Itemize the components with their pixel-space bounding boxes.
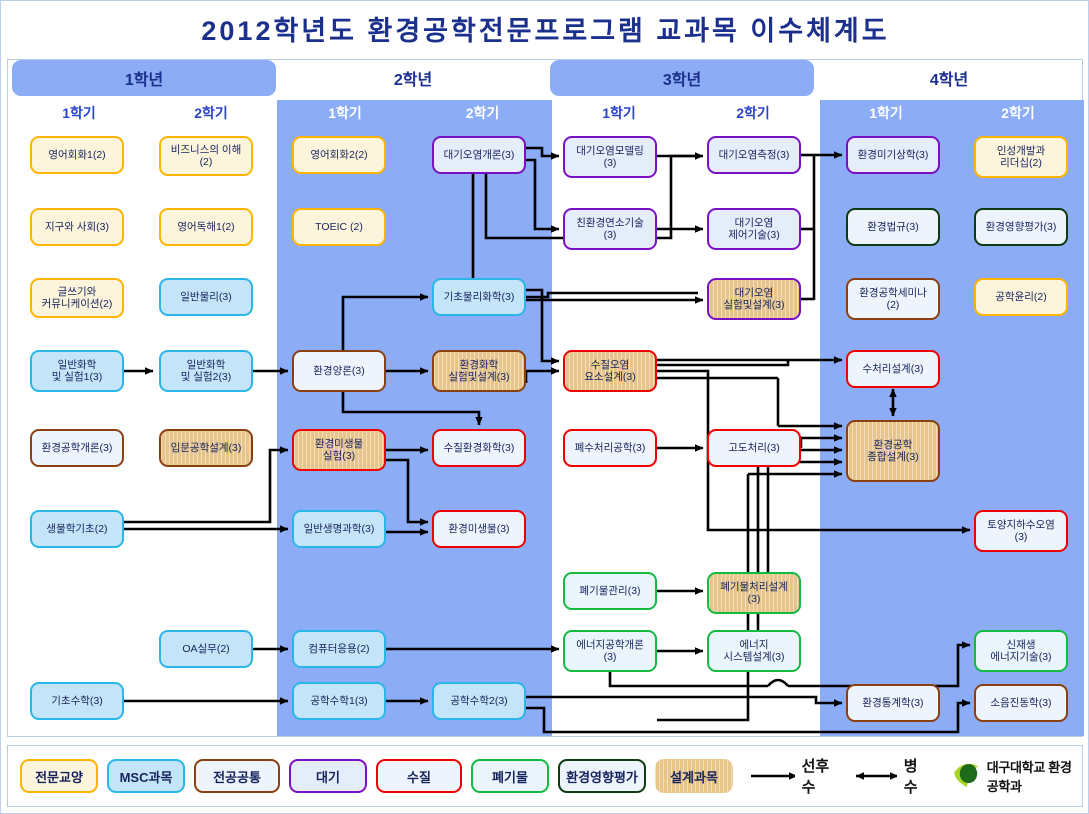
semester-text: 1학기 (328, 103, 362, 123)
prereq-label: 선후수 (802, 755, 835, 797)
course-label: 환경공학세미나 (2) (859, 287, 927, 311)
legend-item-label: 수질 (407, 767, 431, 786)
semester-label-y1s2: 2학기 (146, 100, 276, 126)
course-box-y2s1_c3[interactable]: 환경양론(3) (292, 350, 386, 392)
legend-item-label: 대기 (316, 767, 340, 786)
course-label: 폐기물처리설계 (3) (720, 581, 788, 605)
course-label: 생물학기초(2) (46, 523, 107, 535)
legend-item-5: 폐기물 (471, 759, 549, 793)
course-box-y1s1_c1[interactable]: 영어회화1(2) (30, 136, 124, 174)
course-box-y2s1_c7[interactable]: 공학수학1(3) (292, 682, 386, 720)
legend-bar: 전문교양MSC과목전공공통대기수질폐기물환경영향평가설계과목 선후수 병 (7, 745, 1083, 807)
course-box-y3s2_c4[interactable]: 고도처리(3) (707, 429, 801, 467)
course-label: 대기오염개론(3) (444, 149, 515, 161)
course-box-y3s2_c5[interactable]: 폐기물처리설계 (3) (707, 572, 801, 614)
year-header-3: 3학년 (550, 60, 814, 96)
course-box-y2s1_c4[interactable]: 환경미생물 실험(3) (292, 429, 386, 471)
course-label: 에너지 시스템설계(3) (723, 639, 784, 663)
course-label: 환경영향평가(3) (986, 221, 1057, 233)
course-box-y4s2_c6[interactable]: 소음진동학(3) (974, 684, 1068, 722)
course-box-y3s1_c1[interactable]: 대기오염모델링 (3) (563, 136, 657, 178)
legend-item-4: 수질 (376, 759, 462, 793)
course-box-y4s1_c4[interactable]: 수처리설계(3) (846, 350, 940, 388)
university-logo-icon (951, 756, 983, 796)
course-box-y3s2_c1[interactable]: 대기오염측정(3) (707, 136, 801, 174)
course-label: 신재생 에너지기술(3) (990, 639, 1051, 663)
course-box-y3s2_c2[interactable]: 대기오염 제어기술(3) (707, 208, 801, 250)
course-label: 공학윤리(2) (995, 291, 1046, 303)
course-box-y2s2_c5[interactable]: 환경미생물(3) (432, 510, 526, 548)
course-box-y4s1_c2[interactable]: 환경법규(3) (846, 208, 940, 246)
semester-text: 1학기 (602, 103, 636, 123)
course-label: 소음진동학(3) (990, 697, 1051, 709)
course-box-y2s1_c6[interactable]: 컴퓨터응용(2) (292, 630, 386, 668)
semester-text: 1학기 (869, 103, 903, 123)
course-box-y2s2_c3[interactable]: 환경화학 실험및설계(3) (432, 350, 526, 392)
course-label: 기초물리화학(3) (444, 291, 515, 303)
course-label: 인성개발과 리더십(2) (997, 145, 1045, 169)
course-label: 기초수학(3) (51, 695, 102, 707)
course-label: 토양지하수오염 (3) (987, 519, 1055, 543)
course-box-y4s1_c5[interactable]: 환경공학 종합설계(3) (846, 420, 940, 482)
course-box-y3s1_c3[interactable]: 수질오염 요소설계(3) (563, 350, 657, 392)
course-label: 대기오염 실험및설계(3) (723, 287, 784, 311)
course-box-y1s1_c2[interactable]: 지구와 사회(3) (30, 208, 124, 246)
course-label: 공학수학1(3) (310, 695, 367, 707)
course-label: 폐기물관리(3) (579, 585, 640, 597)
course-box-y3s1_c5[interactable]: 폐기물관리(3) (563, 572, 657, 610)
course-box-y1s1_c6[interactable]: 생물학기초(2) (30, 510, 124, 548)
semester-text: 2학기 (1001, 103, 1035, 123)
course-box-y4s1_c1[interactable]: 환경미기상학(3) (846, 136, 940, 174)
course-label: 에너지공학개론 (3) (576, 639, 644, 663)
course-label: 지구와 사회(3) (45, 221, 109, 233)
course-label: 영어독해1(2) (177, 221, 234, 233)
course-box-y4s1_c3[interactable]: 환경공학세미나 (2) (846, 278, 940, 320)
year-header-2-label: 2학년 (394, 66, 432, 90)
curriculum-flowchart-page: 2012학년도 환경공학전문프로그램 교과목 이수체계도 1학년 2학년 3학년… (0, 0, 1089, 814)
course-label: 입문공학설계(3) (171, 442, 242, 454)
course-box-y1s2_c4[interactable]: 일반화학 및 실험2(3) (159, 350, 253, 392)
course-box-y4s2_c3[interactable]: 공학윤리(2) (974, 278, 1068, 316)
organization-logo: 대구대학교 환경공학과 (951, 756, 1082, 796)
course-box-y1s1_c7[interactable]: 기초수학(3) (30, 682, 124, 720)
course-box-y1s2_c5[interactable]: 입문공학설계(3) (159, 429, 253, 467)
legend-item-label: 전공공통 (213, 767, 261, 786)
course-box-y4s2_c1[interactable]: 인성개발과 리더십(2) (974, 136, 1068, 178)
course-box-y1s1_c5[interactable]: 환경공학개론(3) (30, 429, 124, 467)
course-box-y3s1_c6[interactable]: 에너지공학개론 (3) (563, 630, 657, 672)
course-label: 환경미기상학(3) (858, 149, 929, 161)
legend-item-label: 전문교양 (35, 767, 83, 786)
year-header-2: 2학년 (280, 60, 546, 96)
course-label: 고도처리(3) (728, 442, 779, 454)
course-label: 폐수처리공학(3) (575, 442, 646, 454)
page-title: 2012학년도 환경공학전문프로그램 교과목 이수체계도 (1, 9, 1089, 48)
course-label: 환경통계학(3) (862, 697, 923, 709)
course-label: 컴퓨터응용(2) (308, 643, 369, 655)
semester-label-y2s2: 2학기 (413, 100, 552, 126)
semester-label-y3s1: 1학기 (552, 100, 686, 126)
legend-item-label: 환경영향평가 (566, 767, 638, 786)
legend-prereq: 선후수 (749, 755, 834, 797)
course-box-y3s1_c4[interactable]: 폐수처리공학(3) (563, 429, 657, 467)
course-label: 친환경연소기술 (3) (576, 217, 644, 241)
semester-text: 2학기 (466, 103, 500, 123)
course-label: 환경법규(3) (867, 221, 918, 233)
course-box-y2s2_c4[interactable]: 수질환경화학(3) (432, 429, 526, 467)
legend-item-label: MSC과목 (120, 767, 173, 786)
coreq-arrow-icon (848, 769, 897, 783)
course-box-y2s1_c1[interactable]: 영어회화2(2) (292, 136, 386, 174)
course-box-y1s2_c1[interactable]: 비즈니스의 이해 (2) (159, 136, 253, 176)
course-label: 대기오염모델링 (3) (576, 145, 644, 169)
course-label: 공학수학2(3) (450, 695, 507, 707)
year-header-3-label: 3학년 (663, 66, 701, 90)
legend-item-6: 환경영향평가 (558, 759, 646, 793)
prereq-arrow-icon (749, 769, 795, 783)
course-label: 환경화학 실험및설계(3) (448, 359, 509, 383)
course-label: OA실무(2) (182, 643, 229, 655)
course-label: 환경공학개론(3) (42, 442, 113, 454)
course-label: 비즈니스의 이해 (2) (171, 144, 242, 168)
course-label: 수처리설계(3) (862, 363, 923, 375)
course-label: 대기오염측정(3) (719, 149, 790, 161)
course-box-y1s2_c6[interactable]: OA실무(2) (159, 630, 253, 668)
course-box-y2s2_c1[interactable]: 대기오염개론(3) (432, 136, 526, 174)
course-box-y1s1_c4[interactable]: 일반화학 및 실험1(3) (30, 350, 124, 392)
course-label: 수질오염 요소설계(3) (584, 359, 635, 383)
semester-label-y3s2: 2학기 (686, 100, 820, 126)
semester-label-y1s1: 1학기 (12, 100, 146, 126)
course-box-y2s1_c2[interactable]: TOEIC (2) (292, 208, 386, 246)
flowchart-canvas: 1학년 2학년 3학년 4학년 1학기 2학기 1학기 2학기 1학기 2학기 … (7, 59, 1083, 737)
course-box-y4s2_c4[interactable]: 토양지하수오염 (3) (974, 510, 1068, 552)
course-label: 일반물리(3) (180, 291, 231, 303)
course-label: 대기오염 제어기술(3) (728, 217, 779, 241)
course-box-y1s1_c3[interactable]: 글쓰기와 커뮤니케이션(2) (30, 278, 124, 318)
year-header-4: 4학년 (818, 60, 1080, 96)
course-label: 환경공학 종합설계(3) (867, 439, 918, 463)
course-box-y3s2_c6[interactable]: 에너지 시스템설계(3) (707, 630, 801, 672)
semester-text: 2학기 (736, 103, 770, 123)
course-box-y3s2_c3[interactable]: 대기오염 실험및설계(3) (707, 278, 801, 320)
course-box-y2s1_c5[interactable]: 일반생명과학(3) (292, 510, 386, 548)
year-header-1-label: 1학년 (125, 66, 163, 90)
semester-text: 1학기 (62, 103, 96, 123)
semester-label-y4s1: 1학기 (820, 100, 952, 126)
organization-label: 대구대학교 환경공학과 (987, 757, 1082, 795)
course-label: 환경양론(3) (313, 365, 364, 377)
course-box-y1s2_c3[interactable]: 일반물리(3) (159, 278, 253, 316)
legend-item-3: 대기 (289, 759, 367, 793)
course-box-y1s2_c2[interactable]: 영어독해1(2) (159, 208, 253, 246)
course-label: 영어회화1(2) (48, 149, 105, 161)
legend-item-label: 설계과목 (670, 767, 718, 786)
course-label: 일반화학 및 실험1(3) (52, 359, 103, 383)
legend-coreq: 병수 (848, 755, 927, 797)
course-label: 글쓰기와 커뮤니케이션(2) (42, 286, 113, 310)
coreq-label: 병수 (904, 755, 927, 797)
legend-item-0: 전문교양 (20, 759, 98, 793)
course-label: TOEIC (2) (315, 221, 363, 233)
semester-label-y4s2: 2학기 (952, 100, 1084, 126)
course-label: 일반생명과학(3) (304, 523, 375, 535)
course-label: 환경미생물(3) (448, 523, 509, 535)
course-label: 수질환경화학(3) (444, 442, 515, 454)
course-box-y4s2_c5[interactable]: 신재생 에너지기술(3) (974, 630, 1068, 672)
course-box-y3s1_c2[interactable]: 친환경연소기술 (3) (563, 208, 657, 250)
course-box-y2s2_c6[interactable]: 공학수학2(3) (432, 682, 526, 720)
legend-item-1: MSC과목 (107, 759, 185, 793)
course-label: 일반화학 및 실험2(3) (181, 359, 232, 383)
course-label: 영어회화2(2) (310, 149, 367, 161)
course-box-y4s1_c6[interactable]: 환경통계학(3) (846, 684, 940, 722)
course-label: 환경미생물 실험(3) (315, 438, 363, 462)
semester-text: 2학기 (194, 103, 228, 123)
course-box-y4s2_c2[interactable]: 환경영향평가(3) (974, 208, 1068, 246)
legend-item-7: 설계과목 (655, 759, 733, 793)
year-header-1: 1학년 (12, 60, 276, 96)
legend-item-2: 전공공통 (194, 759, 280, 793)
course-box-y2s2_c2[interactable]: 기초물리화학(3) (432, 278, 526, 316)
legend-item-label: 폐기물 (492, 767, 528, 786)
semester-label-y2s1: 1학기 (277, 100, 413, 126)
year-header-4-label: 4학년 (930, 66, 968, 90)
legend-swatch-list: 전문교양MSC과목전공공통대기수질폐기물환경영향평가설계과목 (20, 759, 733, 793)
